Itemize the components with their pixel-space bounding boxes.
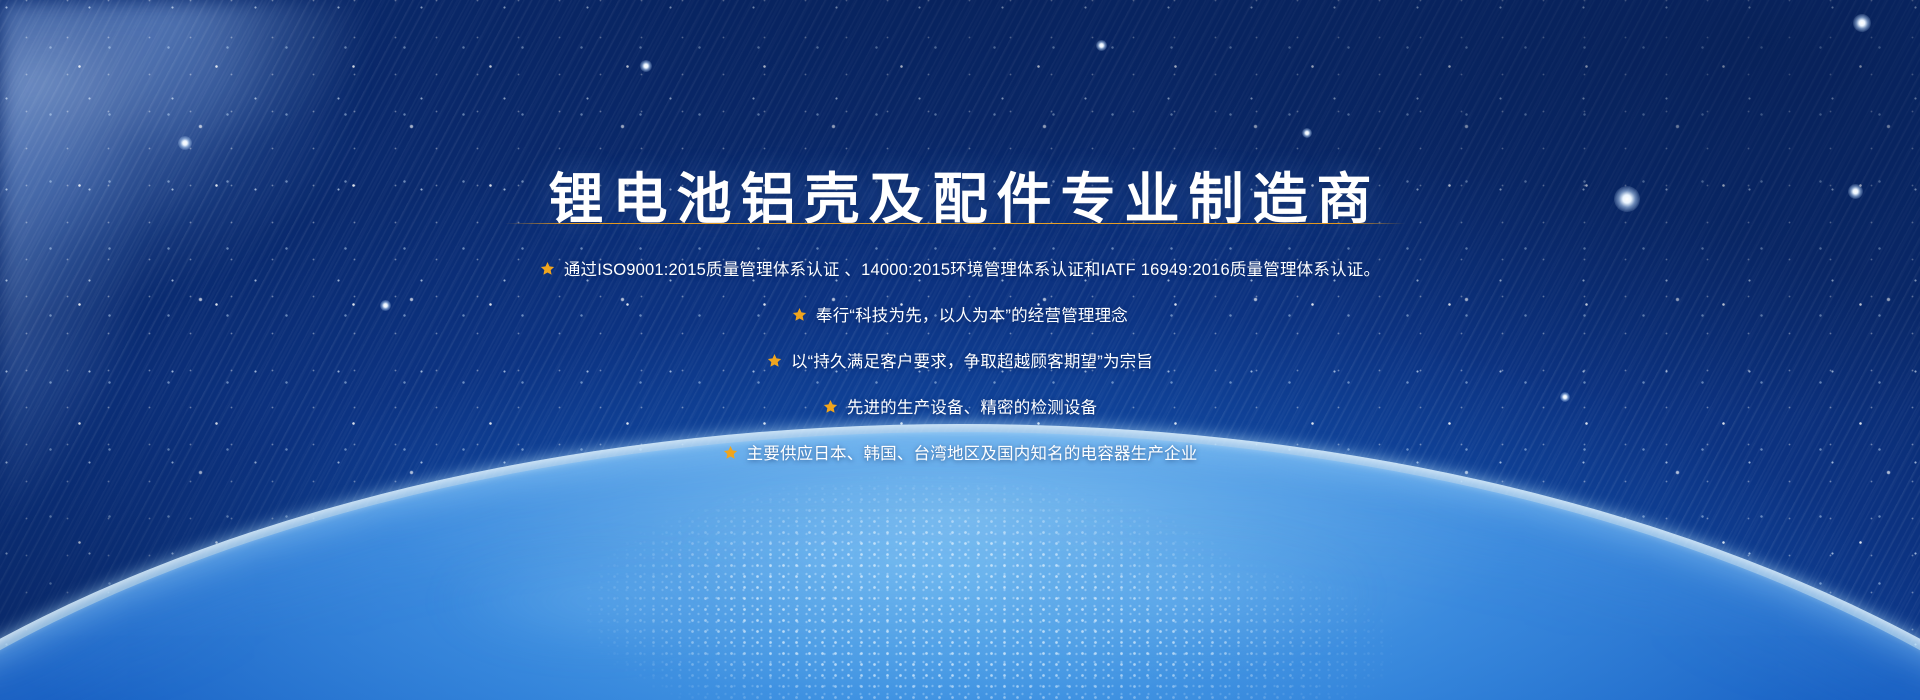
list-item: 主要供应日本、韩国、台湾地区及国内知名的电容器生产企业: [0, 429, 1920, 475]
star-icon: [723, 445, 738, 460]
title-divider: [505, 223, 1405, 224]
star-icon: [823, 399, 838, 414]
list-item: 先进的生产设备、精密的检测设备: [0, 383, 1920, 429]
page-title: 锂电池铝壳及配件专业制造商: [0, 169, 1920, 231]
feature-list: 通过ISO9001:2015质量管理体系认证 、14000:2015环境管理体系…: [0, 245, 1920, 475]
list-item-label: 主要供应日本、韩国、台湾地区及国内知名的电容器生产企业: [747, 440, 1198, 464]
list-item-label: 通过ISO9001:2015质量管理体系认证 、14000:2015环境管理体系…: [564, 256, 1380, 280]
list-item: 奉行“科技为先，以人为本”的经营管理理念: [0, 291, 1920, 337]
banner-content: 锂电池铝壳及配件专业制造商 通过ISO9001:2015质量管理体系认证 、14…: [0, 0, 1920, 700]
star-icon: [767, 353, 782, 368]
list-item-label: 先进的生产设备、精密的检测设备: [847, 394, 1098, 418]
list-item-label: 以“持久满足客户要求，争取超越顾客期望”为宗旨: [791, 348, 1153, 372]
hero-banner: 锂电池铝壳及配件专业制造商 通过ISO9001:2015质量管理体系认证 、14…: [0, 0, 1920, 700]
list-item-label: 奉行“科技为先，以人为本”的经营管理理念: [816, 302, 1128, 326]
list-item: 通过ISO9001:2015质量管理体系认证 、14000:2015环境管理体系…: [0, 245, 1920, 291]
star-icon: [792, 307, 807, 322]
star-icon: [540, 261, 555, 276]
list-item: 以“持久满足客户要求，争取超越顾客期望”为宗旨: [0, 337, 1920, 383]
